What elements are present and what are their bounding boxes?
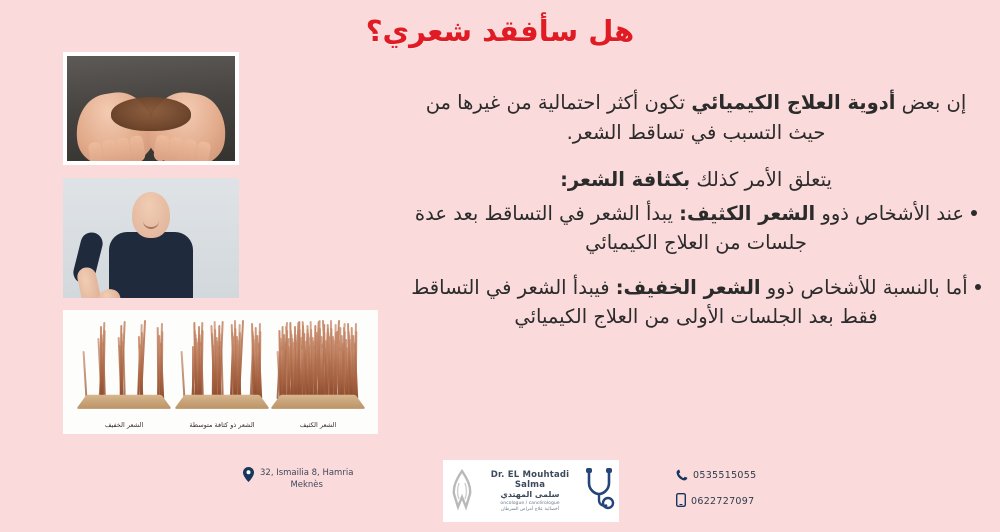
doctor-name-block: Dr. EL Mouhtadi Salma سلمى المهتدي oncol… — [480, 470, 580, 512]
phone-row-landline[interactable]: 0535515055 — [676, 466, 756, 485]
para1-bold: أدوية العلاج الكيميائي — [691, 91, 895, 114]
density-caption-thick: الشعر الكثيف — [268, 421, 368, 429]
awareness-ribbon-icon — [447, 467, 477, 515]
thick-hair-strands — [278, 317, 358, 399]
doctor-name-fr: Dr. EL Mouhtadi Salma — [480, 470, 580, 490]
medium-scalp-base — [174, 395, 269, 409]
right-hand-fingers — [143, 133, 220, 161]
doctor-logo-card: Dr. EL Mouhtadi Salma سلمى المهتدي oncol… — [443, 460, 619, 522]
page-title: هل سأفقد شعري؟ — [0, 14, 1000, 48]
thick-scalp-base — [270, 395, 365, 409]
density-group-sparse — [78, 315, 170, 411]
density-scene: الشعر الخفيف الشعر ذو كثافة متوسطة الشعر… — [66, 313, 375, 431]
phone-number-mobile: 0622727097 — [691, 496, 754, 507]
density-group-thick — [272, 315, 364, 411]
bald-woman-photo — [63, 178, 239, 298]
woman-upper-arm — [71, 230, 105, 286]
address-line2: Meknès — [260, 479, 353, 491]
density-caption-medium: الشعر ذو كثافة متوسطة — [172, 421, 272, 429]
address-text: 32, Ismailia 8, Hamria Meknès — [260, 466, 353, 492]
density-caption-sparse: الشعر الخفيف — [74, 421, 174, 429]
leadin-bold: بكثافة الشعر: — [560, 168, 690, 191]
bullet-dot-icon — [971, 210, 977, 216]
phone-row-mobile[interactable]: 0622727097 — [676, 492, 756, 511]
woman-head — [132, 192, 170, 238]
medium-hair-strands — [182, 317, 262, 399]
woman-torso — [109, 232, 193, 298]
doctor-name-ar: سلمى المهتدي — [480, 490, 580, 499]
bullet1-bold: الشعر الكثيف: — [679, 202, 815, 225]
para1-before: إن بعض — [895, 91, 966, 114]
address-block[interactable]: 32, Ismailia 8, Hamria Meknès — [243, 466, 353, 492]
bullet-dot-icon — [975, 284, 981, 290]
map-pin-icon — [243, 467, 254, 486]
sparse-scalp-base — [76, 395, 171, 409]
paragraph-chemo-drugs: إن بعض أدوية العلاج الكيميائي تكون أكثر … — [410, 88, 982, 147]
hands-holding-hair-photo — [63, 52, 239, 165]
phone-list: 0535515055 0622727097 — [676, 466, 756, 518]
bullet1-before: عند الأشخاص ذوو — [815, 202, 964, 225]
fallen-hair-clump — [111, 97, 191, 131]
bullet2-bold: الشعر الخفيف: — [616, 276, 761, 299]
hands-scene — [67, 56, 235, 161]
bullet2-before: أما بالنسبة للأشخاص ذوو — [761, 276, 968, 299]
mobile-phone-icon — [676, 492, 686, 511]
phone-handset-icon — [676, 466, 688, 485]
hair-density-bullets: عند الأشخاص ذوو الشعر الكثيف: يبدأ الشعر… — [410, 199, 982, 332]
footer-contact-bar: 32, Ismailia 8, Hamria Meknès Dr. EL Mou… — [0, 458, 1000, 532]
leadin-before: يتعلق الأمر كذلك — [690, 168, 832, 191]
content-column: إن بعض أدوية العلاج الكيميائي تكون أكثر … — [410, 88, 982, 348]
woman-forearm — [76, 266, 103, 298]
phone-number-landline: 0535515055 — [693, 470, 756, 481]
bullet-thin-hair: أما بالنسبة للأشخاص ذوو الشعر الخفيف: في… — [410, 273, 982, 332]
lead-in-hair-density: يتعلق الأمر كذلك بكثافة الشعر: — [410, 165, 982, 194]
stethoscope-icon — [583, 466, 615, 516]
address-line1: 32, Ismailia 8, Hamria — [260, 467, 353, 479]
woman-scene — [63, 178, 239, 298]
density-group-medium — [176, 315, 268, 411]
infographic-slide: هل سأفقد شعري؟ — [0, 0, 1000, 532]
sparse-hair-strands — [84, 317, 164, 399]
bullet-thick-hair: عند الأشخاص ذوو الشعر الكثيف: يبدأ الشعر… — [410, 199, 982, 258]
doctor-specialty-ar: أخصائية علاج أمراض السرطان — [480, 507, 580, 512]
hair-density-diagram: الشعر الخفيف الشعر ذو كثافة متوسطة الشعر… — [63, 310, 378, 434]
